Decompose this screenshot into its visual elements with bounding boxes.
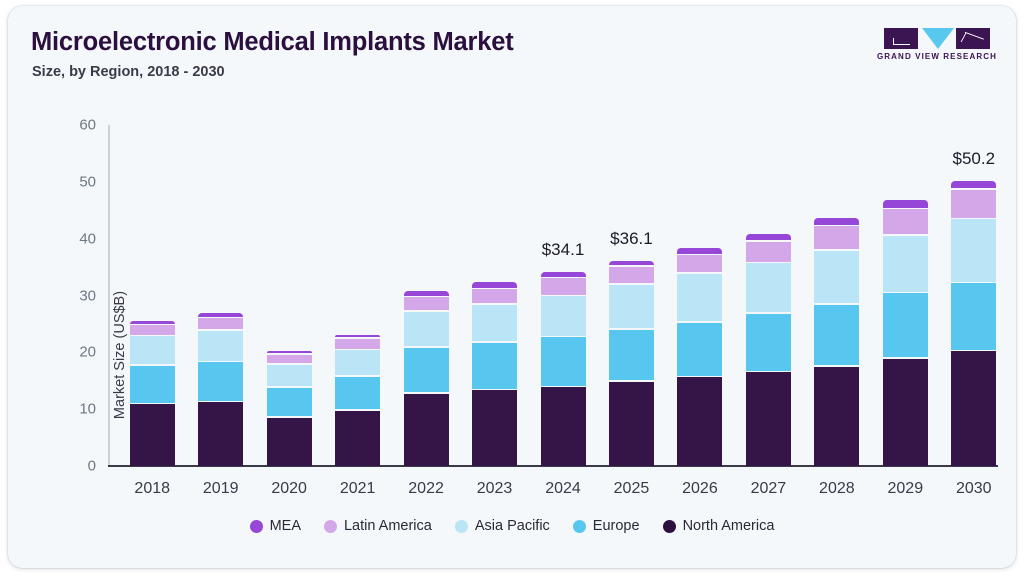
y-axis-tick-label: 50	[79, 173, 96, 190]
bar-segment[interactable]	[198, 402, 243, 466]
legend-item[interactable]: MEA	[250, 518, 301, 534]
legend-item[interactable]: Latin America	[324, 518, 432, 534]
y-axis-tick-label: 60	[79, 117, 96, 134]
chart-legend: MEALatin AmericaAsia PacificEuropeNorth …	[8, 518, 1016, 534]
x-axis-tick-label: 2018	[134, 480, 170, 498]
bar-segment[interactable]	[472, 282, 517, 287]
bar-segment[interactable]	[198, 318, 243, 329]
bar-segment[interactable]	[267, 388, 312, 417]
bar-segment[interactable]	[267, 351, 312, 353]
bar-segment[interactable]	[814, 305, 859, 365]
bar-segment[interactable]	[814, 218, 859, 225]
x-axis-tick-label: 2022	[408, 480, 444, 498]
x-axis-tick-label: 2024	[545, 480, 581, 498]
bar-segment[interactable]	[472, 390, 517, 466]
bar-segment[interactable]	[746, 234, 791, 240]
bar-segment[interactable]	[267, 365, 312, 386]
bar-value-label: $34.1	[542, 240, 585, 260]
logo-square-g-icon	[884, 28, 918, 49]
bar-segment[interactable]	[677, 377, 722, 466]
bar-segment[interactable]	[198, 331, 243, 361]
legend-color-swatch	[324, 520, 337, 533]
bar-segment[interactable]	[677, 323, 722, 376]
bar-stack	[677, 248, 722, 466]
bar-segment[interactable]	[335, 350, 380, 375]
bar-segment[interactable]	[541, 272, 586, 277]
x-axis-tick-label: 2025	[614, 480, 650, 498]
y-axis-tick-label: 40	[79, 230, 96, 247]
bar-segment[interactable]	[609, 261, 654, 265]
y-axis-tick-label: 10	[79, 401, 96, 418]
bar-segment[interactable]	[746, 314, 791, 371]
bar-group[interactable]: 2027	[746, 125, 791, 466]
bar-stack	[814, 218, 859, 466]
bar-segment[interactable]	[814, 226, 859, 249]
bar-segment[interactable]	[746, 372, 791, 466]
bar-segment[interactable]	[814, 367, 859, 466]
x-axis-tick-label: 2028	[819, 480, 855, 498]
bar-group[interactable]: $50.22030	[951, 125, 996, 466]
legend-label: North America	[683, 518, 775, 534]
bar-segment[interactable]	[472, 343, 517, 389]
bar-segment[interactable]	[541, 296, 586, 335]
bar-segment[interactable]	[951, 283, 996, 350]
bar-group[interactable]: 2023	[472, 125, 517, 466]
bar-stack	[404, 291, 449, 466]
bar-segment[interactable]	[472, 305, 517, 342]
bar-segment[interactable]	[883, 293, 928, 357]
legend-color-swatch	[573, 520, 586, 533]
y-axis-tick-label: 0	[88, 458, 96, 475]
bar-segment[interactable]	[609, 382, 654, 466]
y-axis-tick-label: 20	[79, 344, 96, 361]
bar-segment[interactable]	[335, 339, 380, 349]
bar-segment[interactable]	[130, 321, 175, 324]
bar-segment[interactable]	[130, 325, 175, 335]
bar-group[interactable]: 2020	[267, 125, 312, 466]
bar-stack	[609, 261, 654, 466]
bar-segment[interactable]	[267, 355, 312, 364]
bar-segment[interactable]	[609, 267, 654, 284]
legend-label: Latin America	[344, 518, 432, 534]
bar-segment[interactable]	[130, 336, 175, 364]
logo-g-glyph	[893, 38, 910, 45]
x-axis-tick-label: 2030	[956, 480, 992, 498]
bar-segment[interactable]	[404, 297, 449, 310]
page-title: Microelectronic Medical Implants Market	[31, 28, 514, 57]
x-axis-tick-label: 2029	[888, 480, 924, 498]
bar-segment[interactable]	[404, 312, 449, 346]
bar-segment[interactable]	[677, 248, 722, 253]
bar-segment[interactable]	[883, 209, 928, 234]
bar-stack	[267, 351, 312, 466]
bar-segment[interactable]	[746, 242, 791, 262]
x-axis-tick-label: 2020	[271, 480, 307, 498]
bar-group[interactable]: 2028	[814, 125, 859, 466]
y-axis-tick-label: 30	[79, 287, 96, 304]
bar-group[interactable]: 2019	[198, 125, 243, 466]
logo-marks	[884, 28, 990, 49]
legend-label: MEA	[270, 518, 301, 534]
bar-segment[interactable]	[609, 330, 654, 381]
bar-group[interactable]: $36.12025	[609, 125, 654, 466]
x-axis-tick-label: 2021	[340, 480, 376, 498]
bar-segment[interactable]	[404, 291, 449, 296]
bar-group[interactable]: 2022	[404, 125, 449, 466]
bar-segment[interactable]	[883, 359, 928, 466]
bar-group[interactable]: 2021	[335, 125, 380, 466]
legend-color-swatch	[455, 520, 468, 533]
legend-color-swatch	[250, 520, 263, 533]
bar-segment[interactable]	[814, 251, 859, 303]
bar-segment[interactable]	[335, 411, 380, 466]
bar-group[interactable]: 2029	[883, 125, 928, 466]
bar-segment[interactable]	[267, 418, 312, 466]
bar-segment[interactable]	[541, 278, 586, 294]
chart-card: Microelectronic Medical Implants Market …	[8, 6, 1016, 568]
bar-stack	[335, 335, 380, 466]
bar-stack	[746, 234, 791, 466]
bar-segment[interactable]	[472, 289, 517, 303]
x-axis-tick-label: 2027	[751, 480, 787, 498]
bar-segment[interactable]	[335, 335, 380, 337]
bar-segment[interactable]	[951, 181, 996, 189]
logo-triangle-v-icon	[922, 28, 954, 49]
bar-stack	[130, 321, 175, 466]
logo-wordmark: GRAND VIEW RESEARCH	[876, 52, 998, 61]
page-subtitle: Size, by Region, 2018 - 2030	[32, 64, 225, 80]
bar-segment[interactable]	[198, 313, 243, 317]
bar-segment[interactable]	[951, 351, 996, 466]
bar-segment[interactable]	[883, 236, 928, 292]
bar-stack	[472, 282, 517, 466]
bar-segment[interactable]	[609, 285, 654, 328]
bar-segment[interactable]	[404, 348, 449, 393]
bar-value-label: $50.2	[952, 149, 995, 169]
legend-color-swatch	[663, 520, 676, 533]
bar-value-label: $36.1	[610, 229, 653, 249]
bar-segment[interactable]	[883, 200, 928, 208]
bar-segment[interactable]	[335, 377, 380, 410]
bar-segment[interactable]	[951, 219, 996, 281]
x-axis-tick-label: 2019	[203, 480, 239, 498]
x-axis-tick-label: 2023	[477, 480, 513, 498]
bar-group[interactable]: $34.12024	[541, 125, 586, 466]
plot-area: Market Size (US$B) 0102030405060 2018201…	[108, 125, 998, 466]
bar-segment[interactable]	[951, 190, 996, 218]
logo-square-r-icon	[956, 28, 990, 49]
legend-item[interactable]: Asia Pacific	[455, 518, 550, 534]
x-axis-tick-label: 2026	[682, 480, 718, 498]
legend-item[interactable]: Europe	[573, 518, 640, 534]
bar-segment[interactable]	[541, 387, 586, 466]
bar-stack	[951, 181, 996, 466]
legend-item[interactable]: North America	[663, 518, 775, 534]
bar-stack	[541, 272, 586, 466]
bar-segment[interactable]	[130, 366, 175, 403]
bar-segment[interactable]	[130, 404, 175, 466]
bar-stack	[883, 200, 928, 466]
bar-group[interactable]: 2026	[677, 125, 722, 466]
bar-stack	[198, 313, 243, 466]
grand-view-research-logo: GRAND VIEW RESEARCH	[876, 28, 998, 64]
bar-segment[interactable]	[746, 263, 791, 312]
bar-segment[interactable]	[541, 337, 586, 386]
y-axis-label: Market Size (US$B)	[112, 180, 128, 530]
legend-label: Asia Pacific	[475, 518, 550, 534]
bar-segment[interactable]	[404, 394, 449, 466]
bar-group[interactable]: 2018	[130, 125, 175, 466]
bar-segment[interactable]	[198, 362, 243, 401]
legend-label: Europe	[593, 518, 640, 534]
bar-segment[interactable]	[677, 274, 722, 321]
bar-segment[interactable]	[677, 255, 722, 272]
